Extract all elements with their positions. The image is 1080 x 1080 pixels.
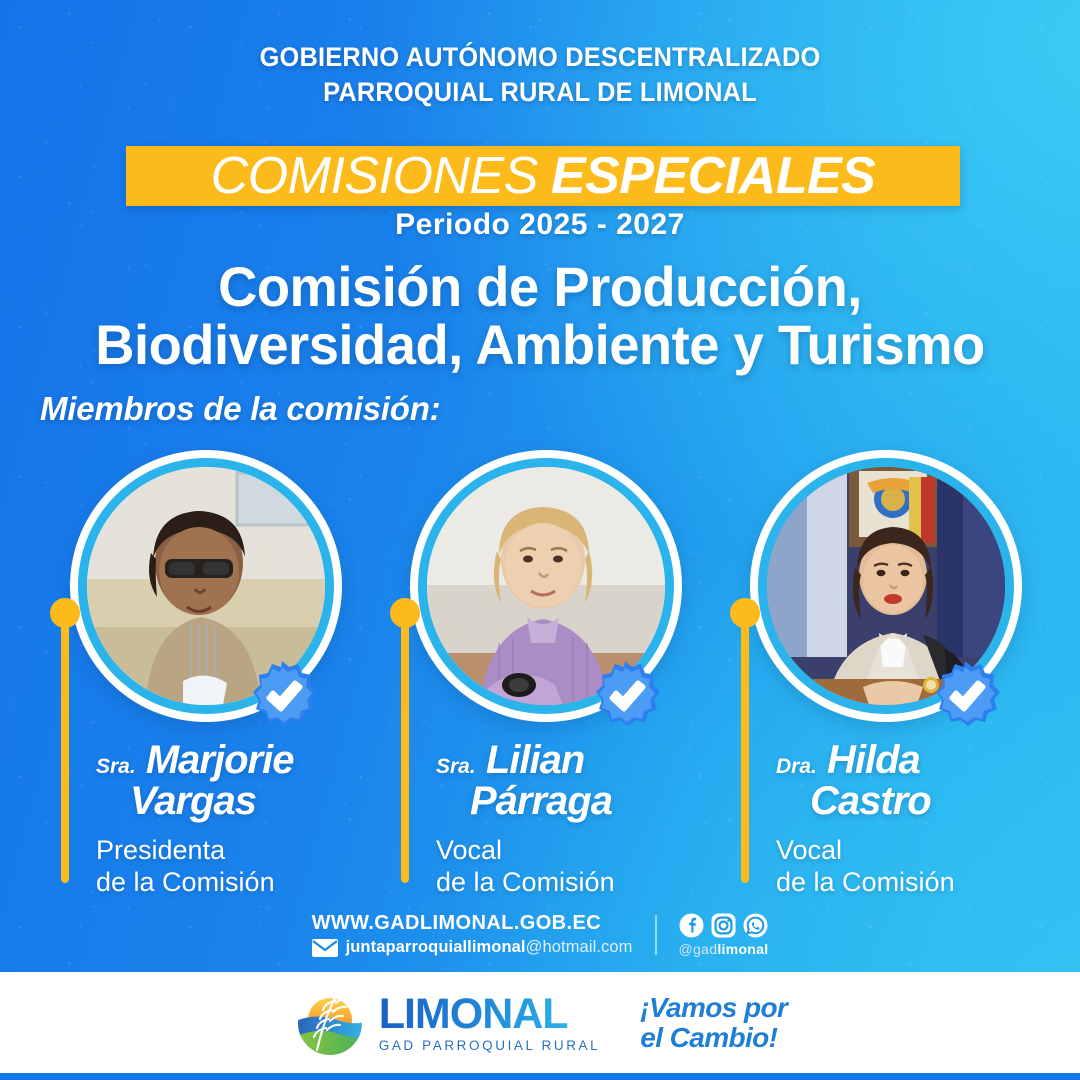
member-card: Sra. Lilian Párraga Vocal de la Comisión — [368, 440, 708, 890]
handle-prefix: @gad — [679, 941, 718, 957]
verified-badge-icon — [926, 658, 1004, 736]
handle-suffix: limonal — [717, 941, 768, 957]
member-role-line2: de la Comisión — [776, 867, 1048, 899]
band-word-especiales: ESPECIALES — [551, 150, 875, 202]
logo-subtitle: GAD PARROQUIAL RURAL — [379, 1039, 601, 1053]
pin-marker — [730, 598, 764, 883]
verified-badge — [586, 658, 664, 736]
whatsapp-icon[interactable] — [743, 913, 768, 938]
contact-right: @gadlimonal — [679, 913, 769, 957]
member-role-line1: Vocal — [436, 835, 708, 867]
slogan: ¡Vamos por el Cambio! — [640, 993, 787, 1051]
member-first-name: Marjorie — [146, 738, 294, 782]
member-name-line1: Sra. Lilian — [436, 740, 708, 780]
pin-marker — [390, 598, 424, 883]
pin-stem — [61, 614, 69, 883]
period-label: Periodo 2025 - 2027 — [0, 208, 1080, 242]
member-card: Dra. Hilda Castro Vocal de la Comisión — [708, 440, 1048, 890]
verified-badge-icon — [243, 658, 321, 736]
member-last-name: Vargas — [130, 780, 368, 823]
verified-badge — [926, 658, 1004, 736]
logo-wordmark: LIMONAL GAD PARROQUIAL RURAL — [379, 993, 601, 1053]
member-role: Vocal de la Comisión — [436, 835, 708, 899]
pin-marker — [50, 598, 84, 883]
contact-left: WWW.GADLIMONAL.GOB.EC juntaparroquiallim… — [312, 912, 633, 957]
envelope-icon — [312, 939, 338, 957]
facebook-icon[interactable] — [679, 913, 704, 938]
org-title-line2: PARROQUIAL RURAL DE LIMONAL — [32, 75, 1047, 110]
member-name-block: Sra. Marjorie Vargas Presidenta de la Co… — [96, 740, 368, 899]
member-role-line2: de la Comisión — [96, 867, 368, 899]
pin-stem — [741, 614, 749, 883]
member-last-name: Castro — [810, 780, 1048, 823]
member-role: Vocal de la Comisión — [776, 835, 1048, 899]
website-link[interactable]: WWW.GADLIMONAL.GOB.EC — [312, 912, 601, 935]
member-name-block: Dra. Hilda Castro Vocal de la Comisión — [776, 740, 1048, 899]
commission-title-line1: Comisión de Producción, — [16, 258, 1064, 316]
member-role-line2: de la Comisión — [436, 867, 708, 899]
member-name-block: Sra. Lilian Párraga Vocal de la Comisión — [436, 740, 708, 899]
contact-divider — [655, 915, 657, 955]
member-name-line1: Dra. Hilda — [776, 740, 1048, 780]
member-first-name: Lilian — [486, 738, 584, 782]
org-title-line1: GOBIERNO AUTÓNOMO DESCENTRALIZADO — [32, 40, 1047, 75]
member-card: Sra. Marjorie Vargas Presidenta de la Co… — [28, 440, 368, 890]
verified-badge-icon — [586, 658, 664, 736]
footer-bar: LIMONAL GAD PARROQUIAL RURAL ¡Vamos por … — [0, 972, 1080, 1073]
member-role-line1: Presidenta — [96, 835, 368, 867]
limonal-emblem-icon — [293, 986, 367, 1060]
email-row[interactable]: juntaparroquiallimonal@hotmail.com — [312, 938, 633, 957]
pin-stem — [401, 614, 409, 883]
slogan-line1: ¡Vamos por — [640, 993, 787, 1022]
band-title: COMISIONES ESPECIALES — [126, 142, 960, 210]
instagram-icon[interactable] — [711, 913, 736, 938]
slogan-line2: el Cambio! — [640, 1023, 787, 1052]
contact-inner: WWW.GADLIMONAL.GOB.EC juntaparroquiallim… — [0, 912, 1080, 957]
commission-title: Comisión de Producción, Biodiversidad, A… — [16, 258, 1064, 374]
poster-canvas: GOBIERNO AUTÓNOMO DESCENTRALIZADO PARROQ… — [0, 0, 1080, 1080]
email-text: juntaparroquiallimonal@hotmail.com — [346, 938, 633, 957]
member-name-line1: Sra. Marjorie — [96, 740, 368, 780]
footer-accent-strip — [0, 1073, 1080, 1080]
email-user: juntaparroquiallimonal — [346, 938, 526, 956]
limonal-logo: LIMONAL GAD PARROQUIAL RURAL — [293, 986, 601, 1060]
logo-name: LIMONAL — [379, 993, 601, 1036]
member-last-name: Párraga — [470, 780, 708, 823]
member-honorific: Sra. — [96, 755, 136, 778]
band-word-comisiones: COMISIONES — [211, 150, 538, 202]
member-honorific: Dra. — [776, 755, 817, 778]
contact-strip: WWW.GADLIMONAL.GOB.EC juntaparroquiallim… — [0, 912, 1080, 964]
social-icons — [679, 913, 768, 938]
member-role: Presidenta de la Comisión — [96, 835, 368, 899]
member-role-line1: Vocal — [776, 835, 1048, 867]
commission-title-line2: Biodiversidad, Ambiente y Turismo — [16, 316, 1064, 374]
email-domain: @hotmail.com — [526, 938, 633, 956]
organization-title: GOBIERNO AUTÓNOMO DESCENTRALIZADO PARROQ… — [32, 40, 1047, 110]
member-honorific: Sra. — [436, 755, 476, 778]
social-handle: @gadlimonal — [679, 941, 769, 957]
verified-badge — [243, 658, 321, 736]
members-label: Miembros de la comisión: — [40, 390, 440, 428]
member-first-name: Hilda — [827, 738, 920, 782]
